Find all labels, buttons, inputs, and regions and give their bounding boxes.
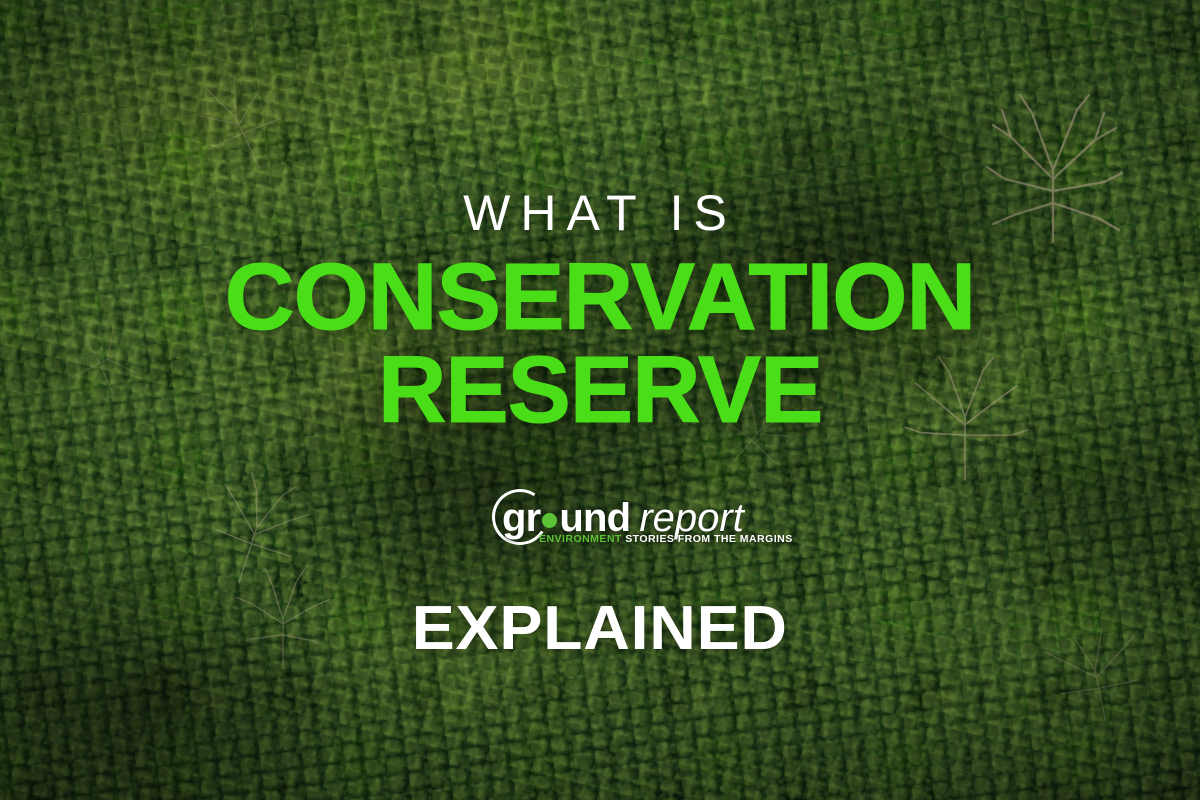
headline-line-2: RESERVE <box>378 345 822 436</box>
logo-tagline: ENVIRONMENT STORIES FROM THE MARGINS <box>539 533 793 545</box>
logo-tagline-highlight: ENVIRONMENT <box>539 533 622 545</box>
kicker-text: WHAT IS <box>463 188 737 238</box>
headline-line-1: CONSERVATION <box>225 252 976 343</box>
logo-green-dot-icon <box>542 513 557 528</box>
logo-tagline-rest: STORIES FROM THE MARGINS <box>625 533 793 545</box>
explained-label: EXPLAINED <box>412 598 788 660</box>
poster-content: WHAT IS CONSERVATION RESERVE gr und repo… <box>0 0 1200 800</box>
poster-graphic: WHAT IS CONSERVATION RESERVE gr und repo… <box>0 0 1200 800</box>
logo-word-gr: gr <box>502 496 540 541</box>
ground-report-logo: gr und report ENVIRONMENT STORIES FROM T… <box>488 488 712 552</box>
